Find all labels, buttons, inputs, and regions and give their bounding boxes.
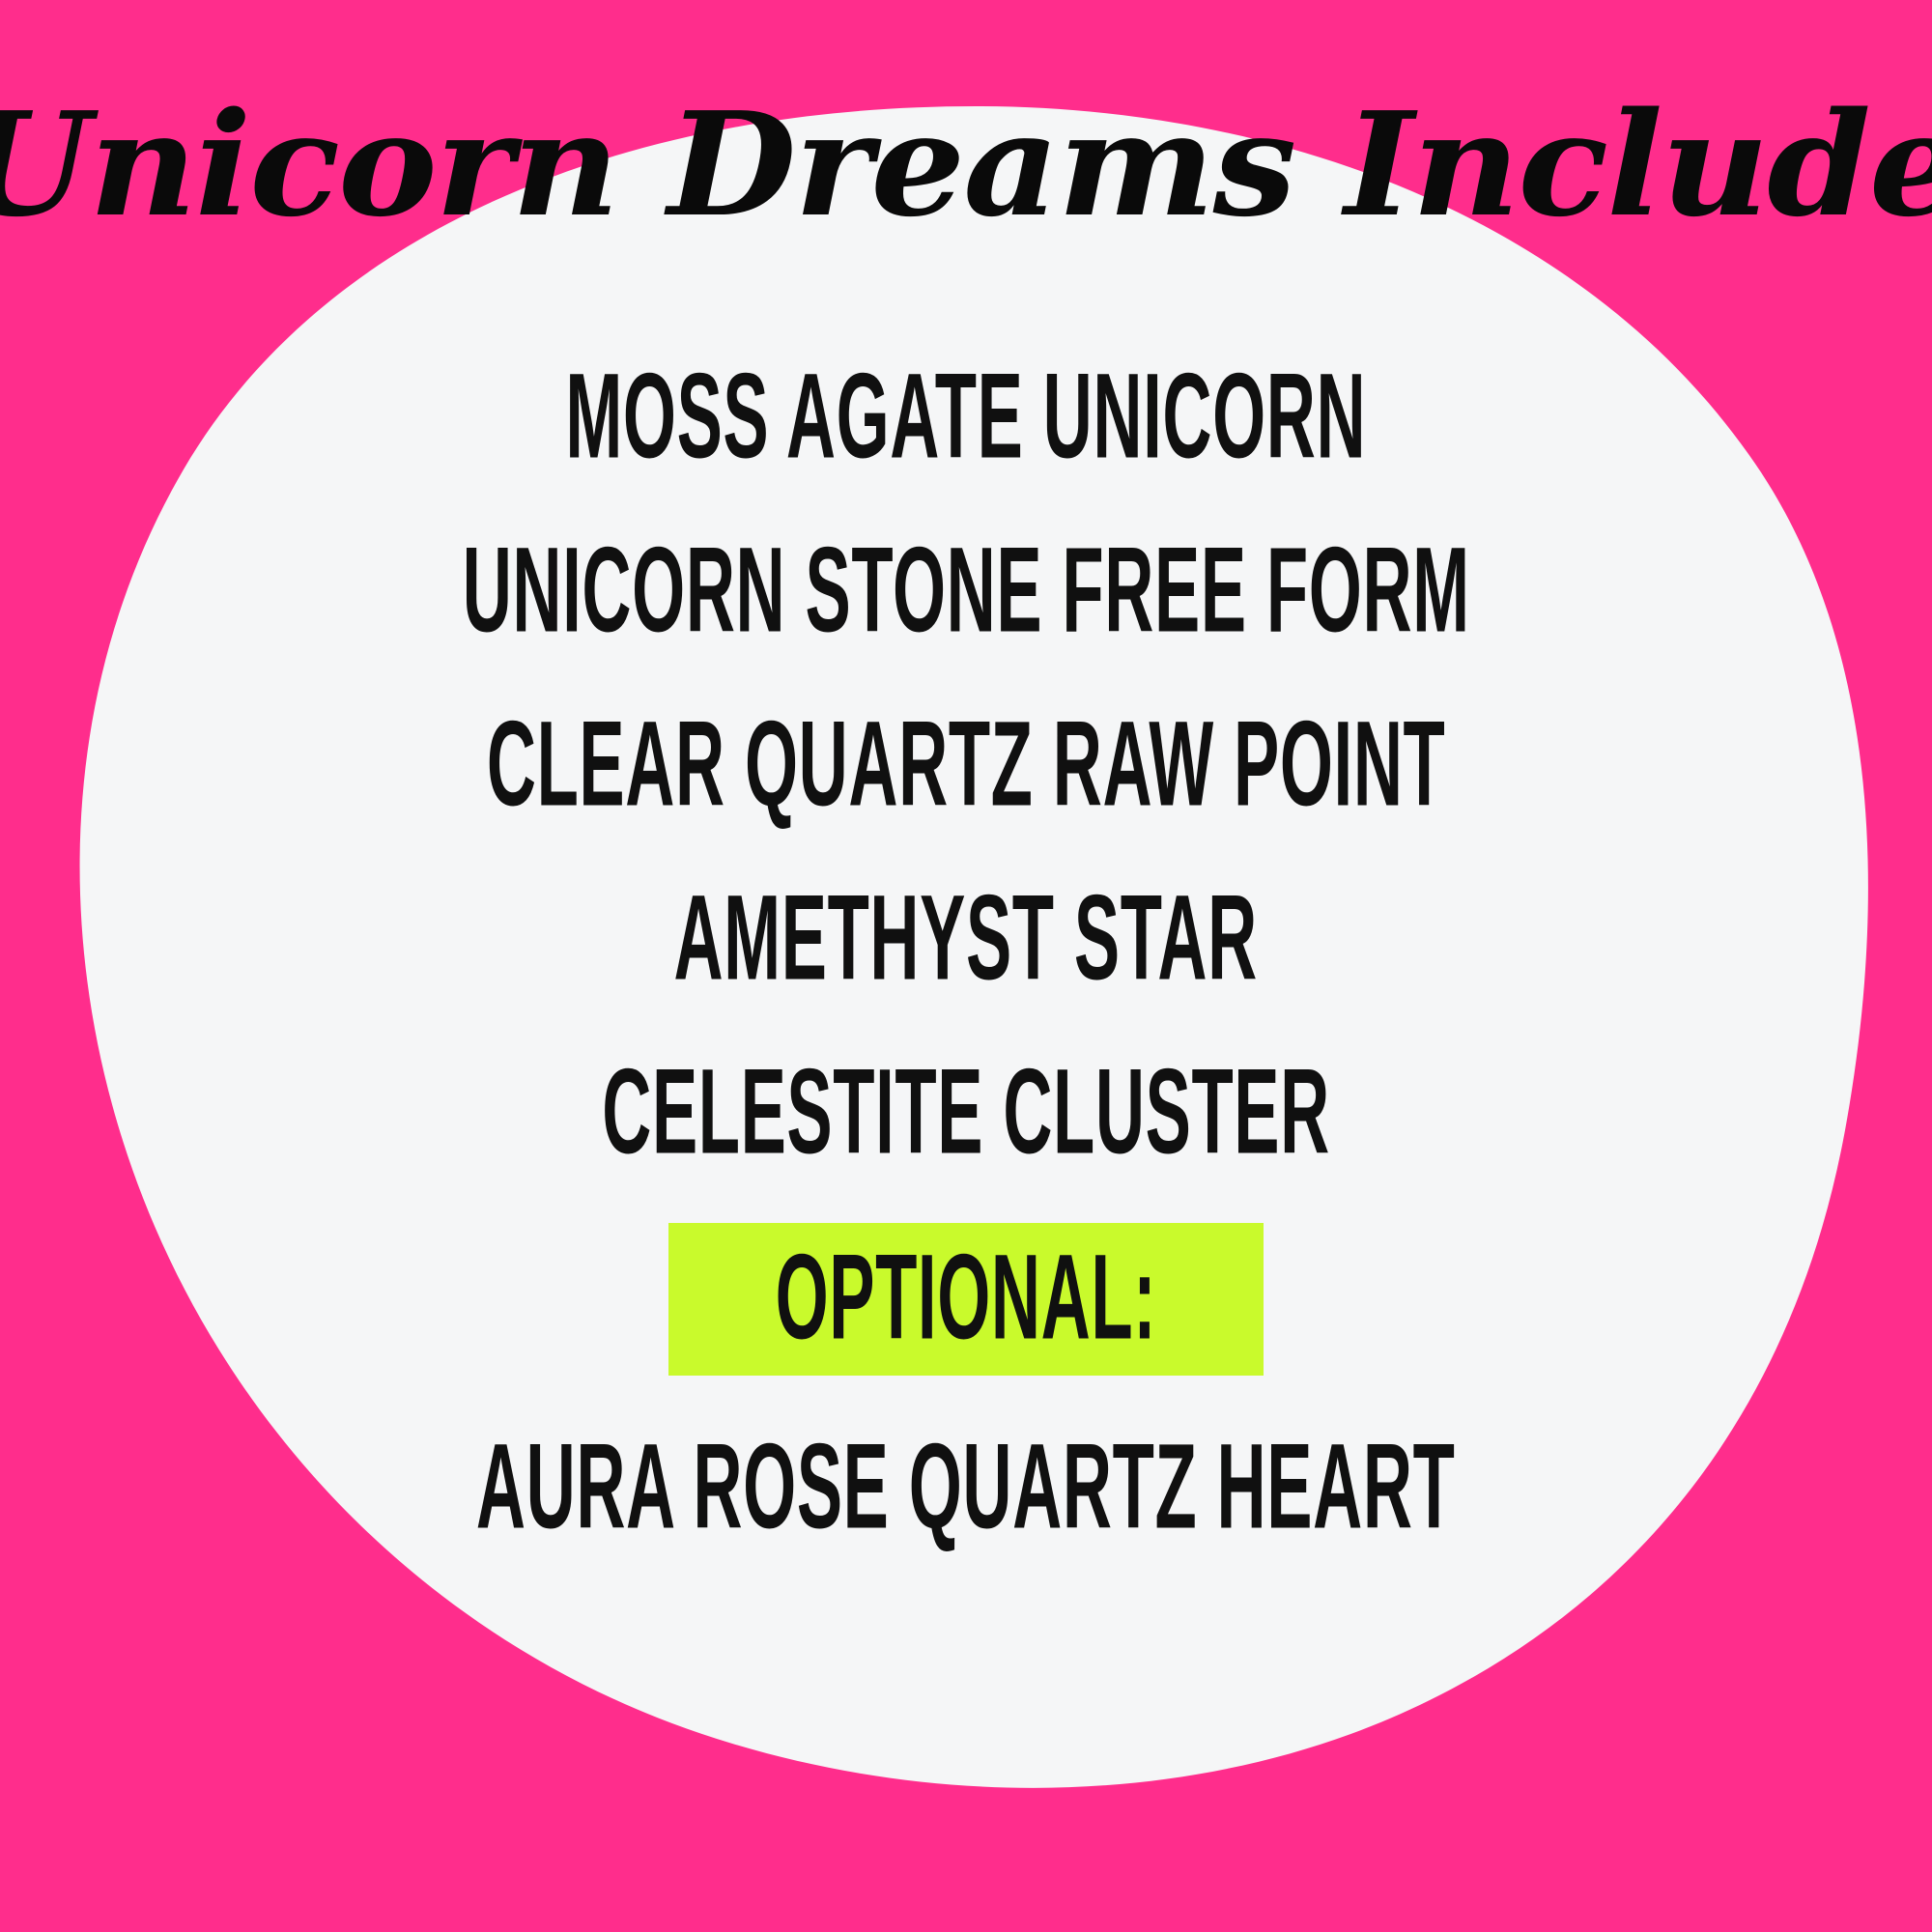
list-item: UNICORN STONE FREE FORM xyxy=(462,529,1469,650)
optional-highlight-badge: OPTIONAL: xyxy=(668,1223,1264,1376)
optional-label: OPTIONAL: xyxy=(776,1236,1157,1357)
inclusions-list: MOSS AGATE UNICORN UNICORN STONE FREE FO… xyxy=(0,359,1932,1544)
poster-canvas: Unicorn Dreams Includes: MOSS AGATE UNIC… xyxy=(0,0,1932,1932)
page-title: Unicorn Dreams Includes: xyxy=(0,93,1932,236)
list-item: AMETHYST STAR xyxy=(674,877,1258,998)
list-item: CLEAR QUARTZ RAW POINT xyxy=(487,703,1446,824)
list-item: AURA ROSE QUARTZ HEART xyxy=(476,1426,1456,1547)
list-item: CELESTITE CLUSTER xyxy=(602,1051,1330,1172)
list-item: MOSS AGATE UNICORN xyxy=(566,355,1367,476)
optional-row: OPTIONAL: xyxy=(0,1223,1932,1376)
